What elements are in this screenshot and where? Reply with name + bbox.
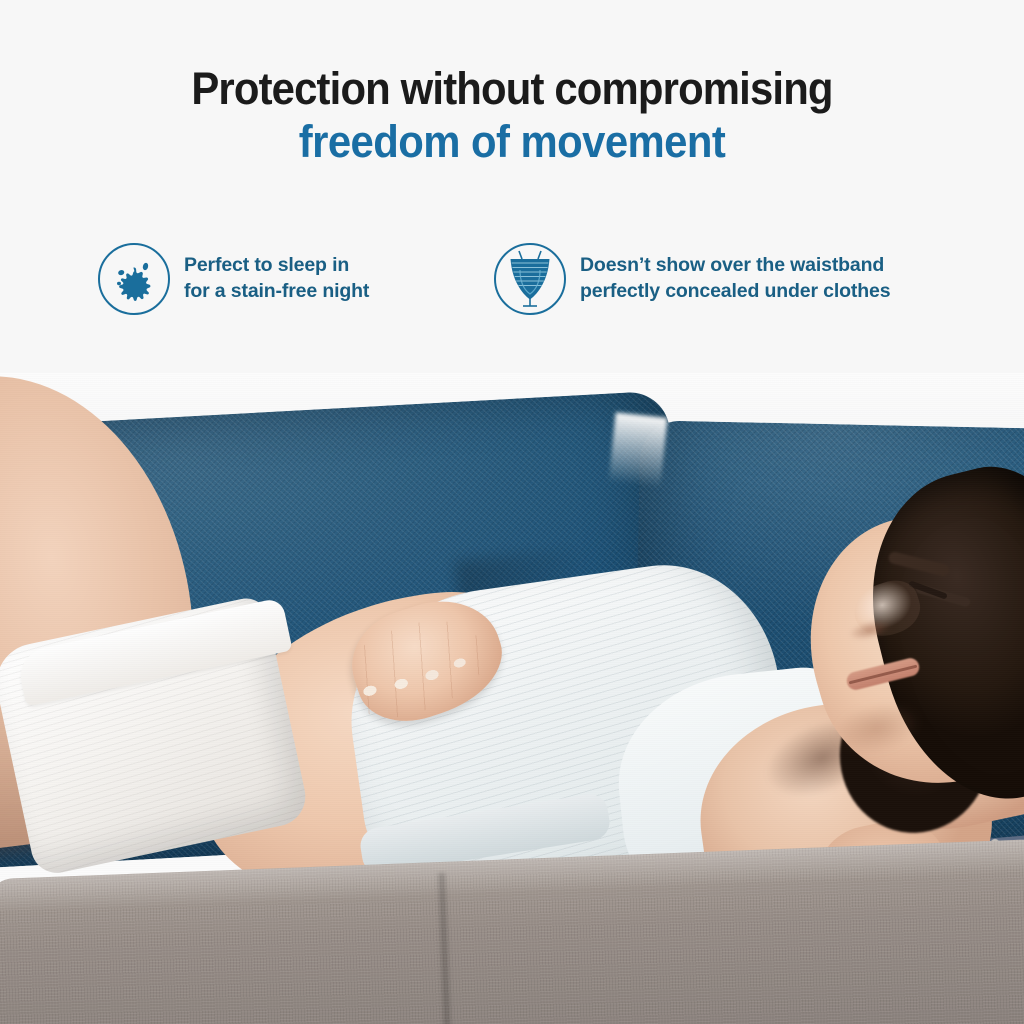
splash-icon [98,243,170,315]
feature-discreet-line-1: Doesn’t show over the waistband [580,253,890,279]
underwear-brief-icon [494,243,566,315]
feature-list: Perfect to sleep in for a stain-free nig… [0,243,1024,343]
headline-line-2: freedom of movement [36,119,988,165]
feature-item-discreet: Doesn’t show over the waistband perfectl… [494,243,890,315]
feature-discreet-line-2: perfectly concealed under clothes [580,279,890,305]
feature-text-discreet: Doesn’t show over the waistband perfectl… [580,253,890,304]
feature-item-sleep: Perfect to sleep in for a stain-free nig… [98,243,369,315]
cushion-gap-highlight [608,412,667,487]
feature-sleep-line-2: for a stain-free night [184,279,369,305]
promo-page: Protection without compromising freedom … [0,0,1024,1024]
lifestyle-photo [0,373,1024,1024]
headline-line-1: Protection without compromising [36,66,988,112]
feature-sleep-line-1: Perfect to sleep in [184,253,369,279]
page-title: Protection without compromising freedom … [0,66,1024,165]
feature-text-sleep: Perfect to sleep in for a stain-free nig… [184,253,369,304]
